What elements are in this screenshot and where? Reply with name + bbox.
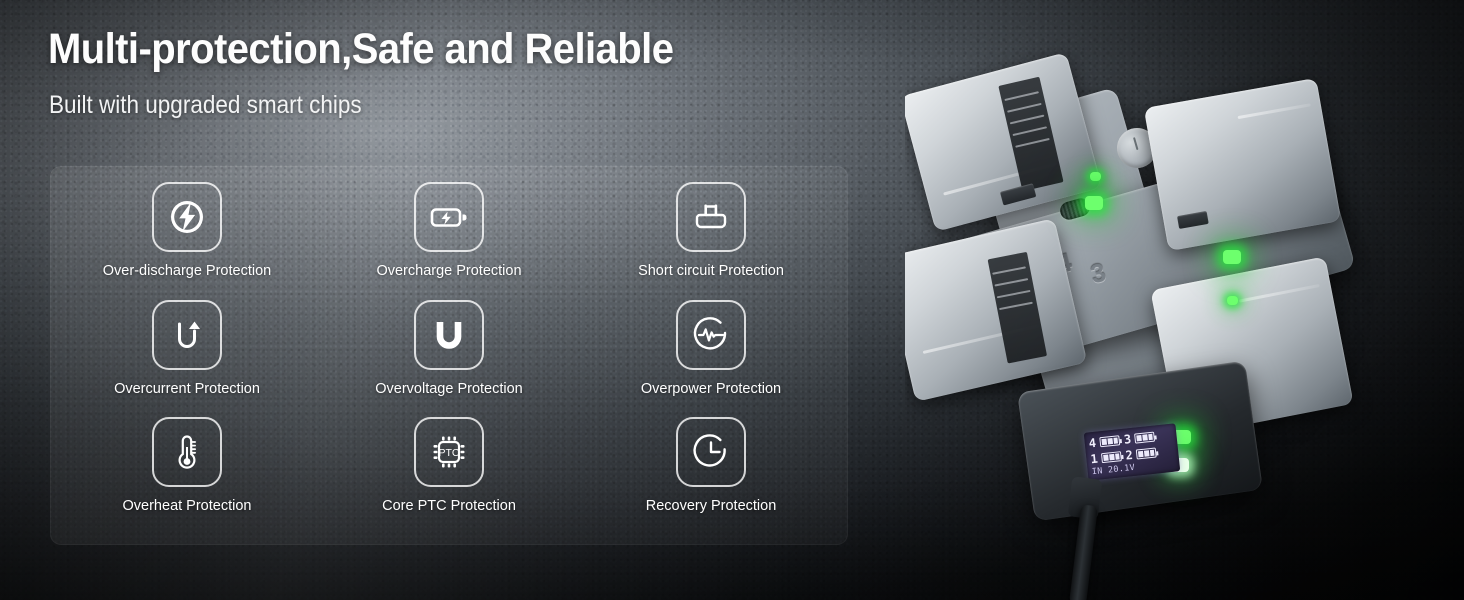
pulse-circle-icon (676, 300, 746, 370)
battery-pack-top-right (1144, 78, 1342, 251)
u-arrow-up-icon (152, 300, 222, 370)
feature-label: Recovery Protection (646, 498, 777, 514)
lcd-slot-4-number: 4 (1088, 437, 1096, 450)
lcd-slot-3-battery (1135, 432, 1156, 444)
product-photo: 4 3 2 1 (905, 0, 1464, 600)
feature-overvoltage: Overvoltage Protection (318, 300, 580, 418)
battery-bolt-icon (414, 182, 484, 252)
bolt-circle-icon (152, 182, 222, 252)
lcd-slot-1-battery (1101, 451, 1122, 463)
feature-label: Core PTC Protection (382, 498, 516, 514)
thermometer-icon (152, 417, 222, 487)
lcd-slot-4-battery (1100, 435, 1121, 447)
ptc-chip-icon: PTC (414, 417, 484, 487)
feature-short-circuit: Short circuit Protection (580, 182, 842, 300)
plug-socket-icon (676, 182, 746, 252)
promo-banner: Multi-protection,Safe and Reliable Built… (0, 0, 1464, 600)
feature-label: Overpower Protection (641, 381, 781, 397)
feature-overcurrent: Overcurrent Protection (56, 300, 318, 418)
feature-recovery: Recovery Protection (580, 417, 842, 535)
features-grid: Over-discharge Protection Overcharge Pro… (50, 166, 848, 545)
page-title: Multi-protection,Safe and Reliable (48, 27, 673, 72)
clock-icon (676, 417, 746, 487)
feature-label: Over-discharge Protection (103, 263, 271, 279)
feature-overheat: Overheat Protection (56, 417, 318, 535)
feature-label: Overcharge Protection (376, 263, 521, 279)
led-indicator-3 (1085, 196, 1103, 210)
lcd-slot-3-number: 3 (1123, 433, 1131, 446)
feature-core-ptc: PTC Core PTC Protection (318, 417, 580, 535)
led-indicator-1 (1227, 296, 1238, 305)
features-panel: Over-discharge Protection Overcharge Pro… (50, 166, 848, 545)
lcd-slot-2-number: 2 (1125, 449, 1133, 462)
lcd-slot-1-number: 1 (1090, 453, 1098, 466)
feature-over-discharge: Over-discharge Protection (56, 182, 318, 300)
page-subtitle: Built with upgraded smart chips (49, 90, 362, 120)
led-indicator-4 (1090, 172, 1101, 181)
feature-overcharge: Overcharge Protection (318, 182, 580, 300)
feature-label: Overcurrent Protection (114, 381, 260, 397)
lcd-display: 4 3 1 2 IN 20.1V (1084, 423, 1181, 480)
letter-u-icon (414, 300, 484, 370)
lcd-slot-2-battery (1136, 447, 1157, 459)
ptc-chip-text: PTC (439, 447, 460, 459)
feature-label: Overvoltage Protection (375, 381, 523, 397)
feature-overpower: Overpower Protection (580, 300, 842, 418)
feature-label: Short circuit Protection (638, 263, 784, 279)
feature-label: Overheat Protection (123, 498, 252, 514)
led-indicator-2 (1223, 250, 1241, 264)
